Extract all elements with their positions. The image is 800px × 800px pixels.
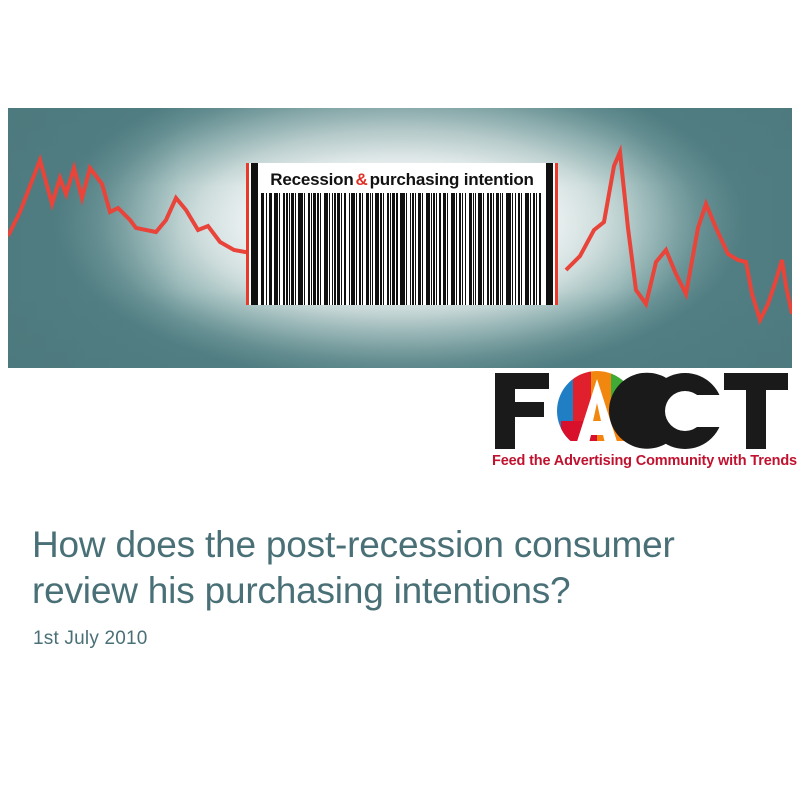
- barcode-bar: [295, 193, 296, 305]
- publication-date: 1st July 2010: [33, 628, 148, 650]
- barcode-bar: [462, 193, 463, 305]
- logo-letter-f: [495, 373, 549, 449]
- barcode-bar: [334, 193, 336, 305]
- fact-tagline: Feed the Advertising Community with Tren…: [492, 453, 792, 469]
- barcode-title-suffix: purchasing intention: [370, 170, 534, 190]
- barcode-bar: [525, 193, 529, 305]
- barcode-bar: [418, 193, 421, 305]
- barcode-guard-right-black: [546, 163, 553, 305]
- barcode-bar: [375, 193, 379, 305]
- logo-letter-c-mouth: [689, 395, 723, 427]
- barcode-bar: [362, 193, 363, 305]
- barcode-bar: [351, 193, 356, 305]
- barcode-bar: [317, 193, 319, 305]
- barcode-graphic: Recession & purchasing intention: [246, 163, 558, 305]
- chart-line-right: [566, 152, 792, 320]
- barcode-bar: [372, 193, 373, 305]
- barcode-bar: [515, 193, 516, 305]
- barcode-guard-left-red: [246, 163, 249, 305]
- barcode-bar: [313, 193, 316, 305]
- barcode-bar: [433, 193, 435, 305]
- barcode-bar: [324, 193, 328, 305]
- barcode-bar: [387, 193, 389, 305]
- barcode-bar: [289, 193, 290, 305]
- barcode-bar: [493, 193, 494, 305]
- barcode-bar: [337, 193, 340, 305]
- barcode-bar: [400, 193, 405, 305]
- barcode-bar: [291, 193, 294, 305]
- page-title: How does the post-recession consumer rev…: [32, 522, 762, 614]
- barcode-bar: [451, 193, 456, 305]
- fact-logo: Feed the Advertising Community with Tren…: [489, 369, 792, 481]
- page-title-line-2: review his purchasing intentions?: [32, 568, 762, 614]
- barcode-bar: [483, 193, 484, 305]
- barcode-bar: [383, 193, 384, 305]
- barcode-bar: [465, 193, 466, 305]
- barcode-bar: [279, 193, 280, 305]
- barcode-bar: [344, 193, 346, 305]
- barcode-bar: [356, 193, 357, 305]
- barcode-bar: [478, 193, 482, 305]
- fact-wordmark: [489, 369, 792, 453]
- barcode-title-prefix: Recession: [270, 170, 353, 190]
- barcode-bar: [436, 193, 437, 305]
- barcode-bar: [410, 193, 411, 305]
- barcode-bar: [500, 193, 501, 305]
- page-title-line-1: How does the post-recession consumer: [32, 522, 762, 568]
- barcode-bar: [502, 193, 503, 305]
- barcode-guard-right-red: [555, 163, 558, 305]
- barcode-bar: [512, 193, 514, 305]
- barcode-bars: [261, 193, 543, 305]
- barcode-title-ampersand: &: [356, 170, 368, 190]
- barcode-bar: [506, 193, 511, 305]
- barcode-bar: [311, 193, 312, 305]
- recession-banner: Recession & purchasing intention: [8, 108, 792, 368]
- barcode-bar: [533, 193, 536, 305]
- disc-segment-top-left-blue: [549, 369, 573, 453]
- barcode-bar: [332, 193, 333, 305]
- barcode-bar: [366, 193, 369, 305]
- barcode-bar: [496, 193, 499, 305]
- barcode-bar: [443, 193, 446, 305]
- barcode-bar: [469, 193, 472, 305]
- barcode-bar: [431, 193, 432, 305]
- barcode-bar: [459, 193, 461, 305]
- barcode-bar: [304, 193, 305, 305]
- barcode-bar: [539, 193, 541, 305]
- barcode-bar: [308, 193, 310, 305]
- barcode-bar: [390, 193, 391, 305]
- barcode-bar: [475, 193, 476, 305]
- barcode-bar: [392, 193, 395, 305]
- barcode-bar: [439, 193, 441, 305]
- barcode-bar: [473, 193, 475, 305]
- barcode-bar: [271, 193, 272, 305]
- barcode-guard-left-black: [251, 163, 258, 305]
- barcode-bar: [487, 193, 489, 305]
- barcode-bar: [456, 193, 457, 305]
- barcode-bar: [349, 193, 350, 305]
- logo-letter-t: [724, 373, 788, 449]
- barcode-bar: [341, 193, 342, 305]
- barcode-bar: [329, 193, 330, 305]
- barcode-bar: [261, 193, 264, 305]
- barcode-bar: [490, 193, 492, 305]
- barcode-bar: [518, 193, 520, 305]
- barcode-bar: [274, 193, 278, 305]
- barcode-bar: [359, 193, 361, 305]
- barcode-bar: [283, 193, 285, 305]
- barcode-bar: [320, 193, 321, 305]
- barcode-bar: [406, 193, 407, 305]
- barcode-bar: [380, 193, 382, 305]
- barcode-bar: [426, 193, 430, 305]
- barcode-bar: [422, 193, 423, 305]
- barcode-bar: [269, 193, 271, 305]
- barcode-bar: [266, 193, 267, 305]
- barcode-bar: [412, 193, 414, 305]
- barcode-bar: [298, 193, 303, 305]
- barcode-bar: [447, 193, 448, 305]
- barcode-bar: [536, 193, 537, 305]
- barcode-title: Recession & purchasing intention: [262, 167, 542, 193]
- barcode-bar: [415, 193, 416, 305]
- barcode-bar: [286, 193, 288, 305]
- barcode-bar: [396, 193, 398, 305]
- barcode-bar: [521, 193, 522, 305]
- barcode-bar: [530, 193, 531, 305]
- barcode-bar: [370, 193, 371, 305]
